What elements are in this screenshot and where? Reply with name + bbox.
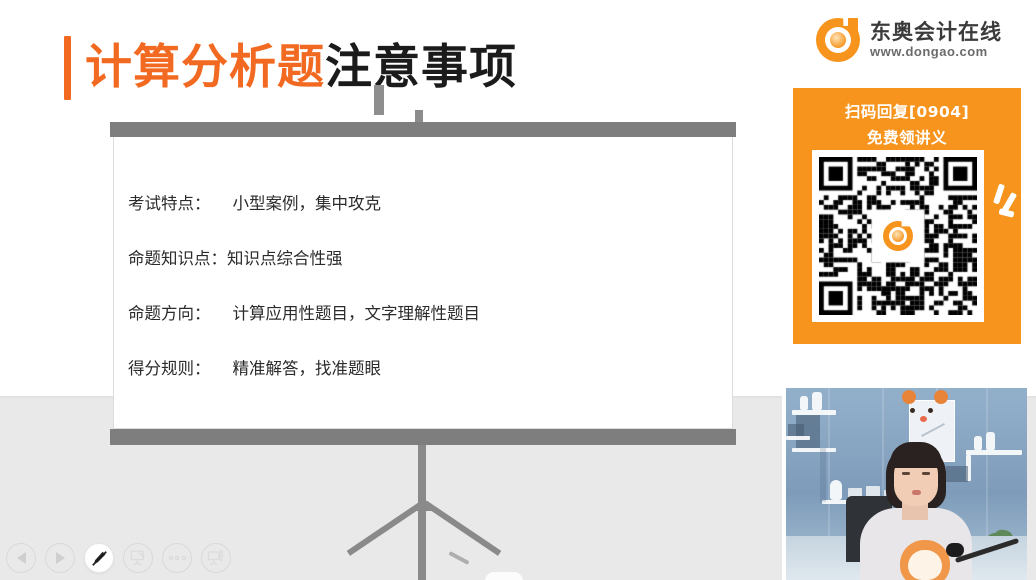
content-line-1: 考试特点： 小型案例，集中攻克 <box>128 190 688 214</box>
content-line-3-value: 计算应用性题目，文字理解性题目 <box>233 300 481 324</box>
qr-promo-panel[interactable]: 扫码回复[0904] 免费领讲义 <box>793 88 1021 344</box>
content-line-2-value: 知识点综合性强 <box>227 245 343 269</box>
content-line-4-label: 得分规则： <box>128 355 211 379</box>
triangle-right-icon <box>56 552 65 564</box>
promo-line-1: 扫码回复[0904] <box>793 100 1021 122</box>
screen-bottom-bar <box>110 429 736 445</box>
pen-tool-button[interactable] <box>84 543 114 573</box>
title-black-part: 注意事项 <box>325 40 517 95</box>
more-options-button[interactable] <box>162 543 192 573</box>
title-text: 计算分析题注意事项 <box>85 36 517 100</box>
qr-code[interactable] <box>812 150 984 322</box>
tripod-post <box>418 445 426 580</box>
presentation-toolbar <box>6 543 231 573</box>
next-page-button[interactable] <box>45 543 75 573</box>
content-line-1-label: 考试特点： <box>128 190 211 214</box>
instructor-hair-top <box>890 442 942 468</box>
title-accent-bar <box>64 36 71 100</box>
instructor-eye-left <box>902 472 910 475</box>
brand-logo: 东奥会计在线 www.dongao.com <box>816 18 1002 62</box>
screen-share-button[interactable] <box>201 543 231 573</box>
content-line-4-value: 精准解答，找准题眼 <box>233 355 382 379</box>
presentation-slide-view: 计算分析题注意事项 考试特点： 小型案例，集中攻克 命题知识点： 知识点综合性强… <box>0 0 1036 580</box>
mascot-ear-left <box>902 390 916 404</box>
ellipsis-icon <box>169 556 186 560</box>
mascot-eye-right <box>928 408 933 413</box>
pen-slash-icon <box>90 549 109 568</box>
slide-content: 考试特点： 小型案例，集中攻克 命题知识点： 知识点综合性强 命题方向： 计算应… <box>128 190 688 410</box>
qr-center-logo <box>876 214 920 258</box>
microphone-head <box>946 543 964 557</box>
presentation-pointer-icon <box>129 549 147 567</box>
dongao-mark-icon <box>816 18 860 62</box>
brand-url: www.dongao.com <box>870 44 1002 60</box>
mascot-nose <box>920 416 927 422</box>
mascot-toy <box>900 540 950 580</box>
content-line-2-label: 命题知识点： <box>128 245 227 269</box>
mascot-ear-right <box>934 390 948 404</box>
triangle-left-icon <box>17 552 26 564</box>
instructor-eye-right <box>922 472 930 475</box>
content-line-1-value: 小型案例，集中攻克 <box>233 190 382 214</box>
content-line-2: 命题知识点： 知识点综合性强 <box>128 245 688 269</box>
screen-share-icon <box>207 549 225 567</box>
promo-line-2: 免费领讲义 <box>793 126 1021 148</box>
mascot-eye-left <box>910 408 915 413</box>
content-line-4: 得分规则： 精准解答，找准题眼 <box>128 355 688 379</box>
sparkle-icon-3 <box>998 208 1014 217</box>
title-orange-part: 计算分析题 <box>85 40 325 95</box>
pointer-tool-button[interactable] <box>123 543 153 573</box>
brand-name: 东奥会计在线 <box>870 20 1002 44</box>
sparkle-icon <box>993 184 1005 205</box>
content-line-3-label: 命题方向： <box>128 300 211 324</box>
instructor-video[interactable] <box>782 384 1027 580</box>
hidden-control-peek[interactable] <box>485 572 523 580</box>
instructor-mouth <box>912 490 921 495</box>
screen-hook-tick <box>374 85 384 115</box>
slide-title: 计算分析题注意事项 <box>64 36 517 100</box>
content-line-3: 命题方向： 计算应用性题目，文字理解性题目 <box>128 300 688 324</box>
screen-top-bar <box>110 122 736 137</box>
prev-page-button[interactable] <box>6 543 36 573</box>
